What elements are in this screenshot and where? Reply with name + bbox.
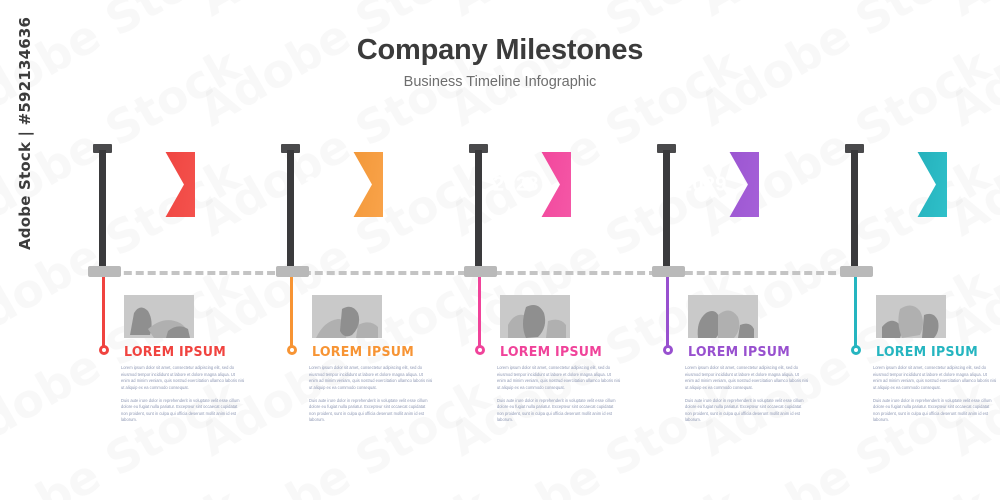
milestone-body: Lorem ipsum dolor sit amet, consectetur … [873,365,997,424]
milestone-paragraph: Lorem ipsum dolor sit amet, consectetur … [309,365,433,392]
stock-credit: Adobe Stock | #592134636 [16,17,34,250]
connector-stem [854,277,857,350]
milestone-paragraph: Duis aute irure dolor in reprehenderit i… [873,398,997,425]
milestone-heading: LOREM IPSUM [688,344,790,360]
connector-stem [478,277,481,350]
milestone-paragraph: Lorem ipsum dolor sit amet, consectetur … [873,365,997,392]
milestone-body: Lorem ipsum dolor sit amet, consectetur … [121,365,245,424]
milestone-paragraph: Duis aute irure dolor in reprehenderit i… [497,398,621,425]
milestone-paragraph: Lorem ipsum dolor sit amet, consectetur … [497,365,621,392]
year-label: 2028 [493,174,539,197]
milestone-connector [102,277,105,350]
milestone-paragraph: Duis aute irure dolor in reprehenderit i… [309,398,433,425]
connector-stem [666,277,669,350]
year-label: 2030 [869,174,915,197]
page-title: Company Milestones [0,34,1000,67]
flag-pole [99,150,106,269]
page-subtitle: Business Timeline Infographic [0,74,1000,90]
milestone-heading: LOREM IPSUM [124,344,226,360]
milestone-paragraph: Lorem ipsum dolor sit amet, consectetur … [121,365,245,392]
connector-dot [99,345,109,355]
milestone-connector [478,277,481,350]
milestone-body: Lorem ipsum dolor sit amet, consectetur … [497,365,621,424]
connector-dot [475,345,485,355]
placeholder-artwork-icon [688,295,758,338]
flag-pole [287,150,294,269]
image-placeholder [688,295,758,338]
milestone-paragraph: Lorem ipsum dolor sit amet, consectetur … [685,365,809,392]
connector-stem [290,277,293,350]
milestone-connector [290,277,293,350]
image-placeholder [876,295,946,338]
flag-pole-base [88,266,121,277]
flag-pole [663,150,670,269]
year-label: 2026 [117,174,163,197]
placeholder-artwork-icon [876,295,946,338]
connector-dot [663,345,673,355]
milestone-heading: LOREM IPSUM [500,344,602,360]
placeholder-artwork-icon [500,295,570,338]
connector-dot [851,345,861,355]
placeholder-artwork-icon [124,295,194,338]
milestone-paragraph: Duis aute irure dolor in reprehenderit i… [121,398,245,425]
placeholder-artwork-icon [312,295,382,338]
milestone-connector [854,277,857,350]
flag-pole-base [840,266,873,277]
year-label: 2029 [681,174,727,197]
connector-stem [102,277,105,350]
milestone-heading: LOREM IPSUM [312,344,414,360]
milestone-paragraph: Duis aute irure dolor in reprehenderit i… [685,398,809,425]
image-placeholder [312,295,382,338]
flag-pole-base [276,266,309,277]
image-placeholder [124,295,194,338]
flag-pole-base [464,266,497,277]
connector-dot [287,345,297,355]
year-label: 2027 [305,174,351,197]
milestone-connector [666,277,669,350]
milestone-heading: LOREM IPSUM [876,344,978,360]
milestone-body: Lorem ipsum dolor sit amet, consectetur … [309,365,433,424]
image-placeholder [500,295,570,338]
header: Company Milestones Business Timeline Inf… [0,34,1000,90]
flag-pole-base [652,266,685,277]
milestone-body: Lorem ipsum dolor sit amet, consectetur … [685,365,809,424]
flag-pole [475,150,482,269]
flag-pole [851,150,858,269]
